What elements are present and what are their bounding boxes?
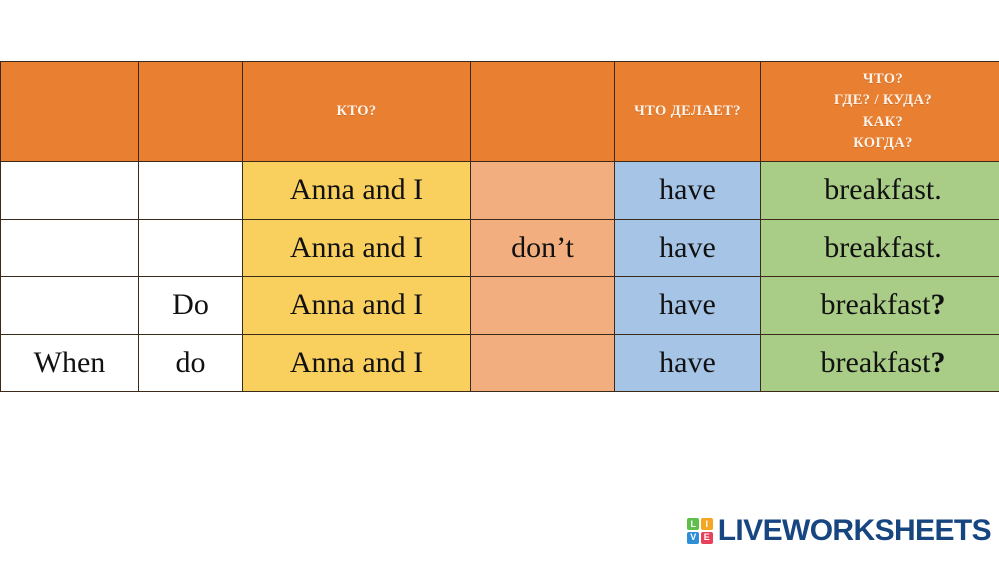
cell-auxiliary: do: [139, 334, 243, 392]
header-line-kogda: КОГДА?: [761, 133, 999, 154]
table-row: When do Anna and I have breakfast?: [1, 334, 999, 392]
cell-subject: Anna and I: [243, 219, 471, 277]
header-cell-negation: [471, 62, 615, 162]
table-row: Anna and I have breakfast.: [1, 162, 999, 220]
cell-auxiliary: [139, 162, 243, 220]
object-text: breakfast.: [824, 231, 941, 264]
table-body: Anna and I have breakfast. Anna and I do…: [1, 162, 999, 392]
header-line-gde-kuda: ГДЕ? / КУДА?: [761, 90, 999, 111]
table-row: Do Anna and I have breakfast?: [1, 277, 999, 335]
cell-question-word: When: [1, 334, 139, 392]
cell-object: breakfast.: [761, 219, 999, 277]
cell-auxiliary: Do: [139, 277, 243, 335]
cell-negation: [471, 162, 615, 220]
table-row: Anna and I don’t have breakfast.: [1, 219, 999, 277]
header-cell-chto-delaet: ЧТО ДЕЛАЕТ?: [615, 62, 761, 162]
cell-subject: Anna and I: [243, 277, 471, 335]
cell-subject: Anna and I: [243, 162, 471, 220]
cell-verb: have: [615, 334, 761, 392]
logo-tile-e: E: [701, 532, 713, 544]
cell-negation: don’t: [471, 219, 615, 277]
logo-tile-l: L: [687, 518, 699, 530]
cell-auxiliary: [139, 219, 243, 277]
liveworksheets-logo-mark: L I V E: [687, 518, 713, 544]
table-header: КТО? ЧТО ДЕЛАЕТ? ЧТО? ГДЕ? / КУДА? КАК? …: [1, 62, 999, 162]
grammar-structure-table: КТО? ЧТО ДЕЛАЕТ? ЧТО? ГДЕ? / КУДА? КАК? …: [0, 61, 999, 392]
cell-verb: have: [615, 277, 761, 335]
cell-object: breakfast?: [761, 334, 999, 392]
header-cell-auxiliary: [139, 62, 243, 162]
cell-verb: have: [615, 162, 761, 220]
object-text: breakfast: [821, 346, 931, 379]
object-text: breakfast: [821, 288, 931, 321]
cell-object: breakfast?: [761, 277, 999, 335]
header-line-kak: КАК?: [761, 112, 999, 133]
cell-object: breakfast.: [761, 162, 999, 220]
cell-question-word: [1, 219, 139, 277]
question-mark: ?: [930, 346, 945, 379]
header-line-chto: ЧТО?: [761, 69, 999, 90]
liveworksheets-logo[interactable]: L I V E LIVEWORKSHEETS: [687, 516, 991, 546]
question-mark: ?: [930, 288, 945, 321]
header-cell-kto: КТО?: [243, 62, 471, 162]
cell-question-word: [1, 162, 139, 220]
logo-wordmark: LIVEWORKSHEETS: [718, 516, 991, 546]
cell-question-word: [1, 277, 139, 335]
header-cell-chto-gde-kak-kogda: ЧТО? ГДЕ? / КУДА? КАК? КОГДА?: [761, 62, 999, 162]
cell-subject: Anna and I: [243, 334, 471, 392]
cell-negation: [471, 277, 615, 335]
logo-tile-i: I: [701, 518, 713, 530]
logo-tile-v: V: [687, 532, 699, 544]
cell-negation: [471, 334, 615, 392]
cell-verb: have: [615, 219, 761, 277]
header-row: КТО? ЧТО ДЕЛАЕТ? ЧТО? ГДЕ? / КУДА? КАК? …: [1, 62, 999, 162]
object-text: breakfast.: [824, 173, 941, 206]
header-cell-question-word: [1, 62, 139, 162]
